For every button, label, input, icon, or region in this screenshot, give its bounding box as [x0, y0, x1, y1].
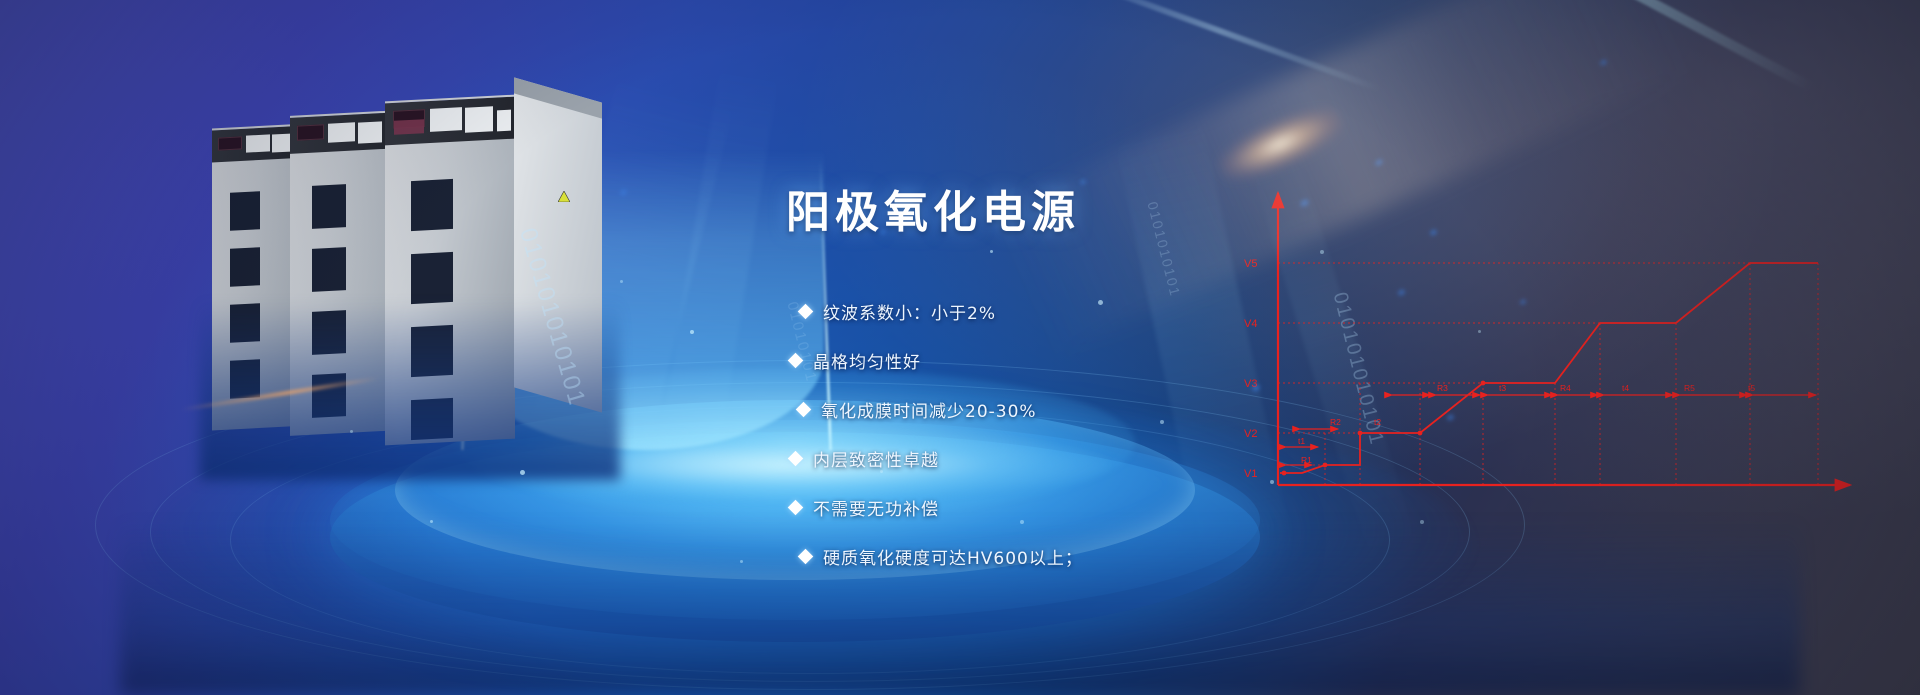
cabinet-display — [218, 136, 242, 150]
feature-text: 纹波系数小：小于2% — [823, 299, 996, 324]
product-banner: 010101010101 0101010101 010101010101 010… — [0, 0, 1920, 695]
warning-triangle-icon — [558, 191, 570, 202]
feature-text: 不需要无功补偿 — [813, 495, 939, 520]
diamond-bullet-icon — [788, 500, 804, 516]
cabinet-vent — [312, 247, 346, 292]
cabinet-keypad[interactable] — [394, 119, 424, 135]
feature-item: 氧化成膜时间减少20-30% — [798, 385, 1310, 434]
span-label-t4: t4 — [1622, 383, 1629, 393]
cabinet-label-plate — [465, 106, 493, 132]
data-point — [1418, 431, 1423, 436]
diamond-bullet-icon — [788, 451, 804, 467]
diamond-bullet-icon — [788, 353, 804, 369]
data-point — [1481, 381, 1486, 386]
diamond-bullet-icon — [796, 402, 812, 418]
span-label-r2: R2 — [1330, 417, 1341, 427]
span-label-r3: R3 — [1437, 383, 1448, 393]
diamond-bullet-icon — [798, 304, 814, 320]
data-point — [1323, 463, 1328, 468]
cabinet-label-plate — [430, 107, 462, 132]
feature-item: 硬质氧化硬度可达HV600以上； — [800, 532, 1310, 581]
feature-text: 内层致密性卓越 — [813, 446, 939, 471]
cabinet-display — [297, 124, 324, 140]
span-label-r5: R5 — [1684, 383, 1695, 393]
cabinet-breaker — [497, 110, 511, 132]
span-label-r4: R4 — [1560, 383, 1571, 393]
cabinet-vent — [230, 191, 260, 231]
feature-text: 硬质氧化硬度可达HV600以上； — [823, 544, 1083, 569]
span-label-t3: t3 — [1499, 383, 1506, 393]
span-label-t2: t2 — [1374, 417, 1381, 427]
voltage-ramp-line — [1280, 263, 1818, 473]
feature-item: 纹波系数小：小于2% — [800, 287, 1310, 336]
cabinet-vent — [411, 179, 453, 231]
cabinet-vent — [411, 252, 453, 304]
data-point — [1358, 431, 1363, 436]
chart-svg: V5 V4 V3 V2 V1 R1 t1 R2 t2 R3 t3 R4 t4 R… — [1240, 185, 1860, 505]
diamond-bullet-icon — [798, 549, 814, 565]
cabinet-vent — [312, 184, 346, 229]
cabinet-label-plate — [358, 121, 382, 143]
feature-list: 纹波系数小：小于2% 晶格均匀性好 氧化成膜时间减少20-30% 内层致密性卓越… — [790, 287, 1310, 581]
cabinet-label-plate — [246, 134, 270, 152]
feature-text: 氧化成膜时间减少20-30% — [821, 397, 1037, 422]
feature-item: 内层致密性卓越 — [790, 434, 1310, 483]
feature-item: 不需要无功补偿 — [790, 483, 1310, 532]
page-title: 阳极氧化电源 — [786, 176, 1080, 240]
voltage-ramp-chart: V5 V4 V3 V2 V1 R1 t1 R2 t2 R3 t3 R4 t4 R… — [1240, 185, 1860, 505]
cabinet-label-plate — [328, 122, 355, 142]
feature-item: 晶格均匀性好 — [790, 336, 1310, 385]
span-label-t5: t5 — [1748, 383, 1755, 393]
feature-text: 晶格均匀性好 — [813, 348, 921, 373]
cabinet-vent — [230, 247, 260, 287]
